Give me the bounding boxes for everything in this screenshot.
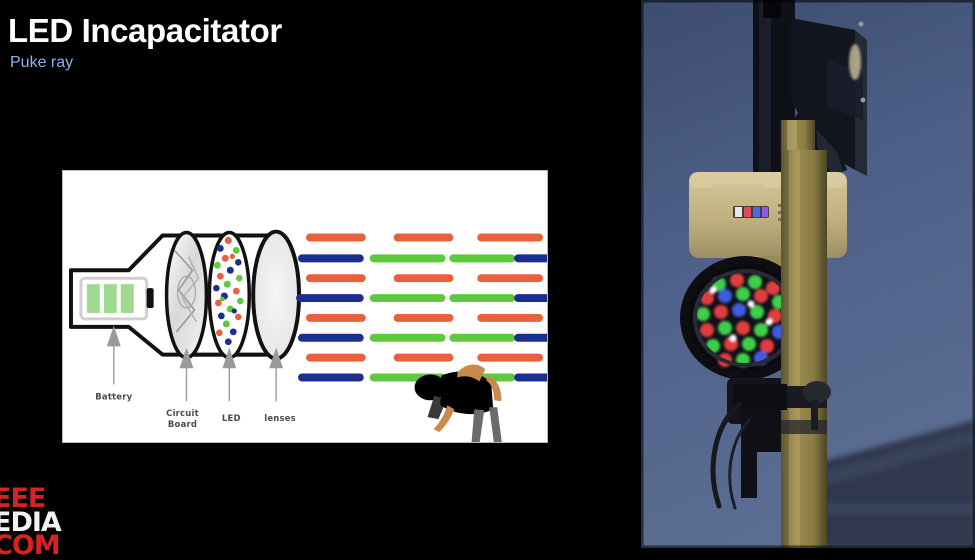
watermark: EEE EDIA COM [0, 487, 113, 558]
lens-disc [253, 232, 299, 359]
incapacitator-photo [641, 0, 975, 548]
watermark-line-3: COM [0, 534, 113, 558]
led-disc [209, 233, 249, 358]
label-battery: Battery [95, 391, 132, 401]
diagram-panel: Battery Circuit Board LED lenses [62, 170, 548, 443]
label-circuit-board-line1: Circuit [166, 408, 199, 418]
person-vomiting-figure [415, 365, 503, 442]
slide-stage: LED Incapacitator Puke ray [0, 0, 975, 560]
page-title: LED Incapacitator [8, 14, 608, 49]
label-led: LED [222, 413, 241, 423]
label-lenses: lenses [264, 413, 296, 423]
label-circuit-board-line2: Board [168, 419, 197, 429]
title-block: LED Incapacitator Puke ray [8, 14, 608, 71]
support-pole [781, 150, 827, 548]
device-diagram: Battery Circuit Board LED lenses [63, 171, 547, 442]
circuit-board-disc [167, 233, 207, 358]
emitted-rays [300, 238, 547, 378]
battery-icon [81, 278, 154, 319]
photo-panel [641, 0, 975, 548]
page-subtitle: Puke ray [10, 55, 608, 71]
